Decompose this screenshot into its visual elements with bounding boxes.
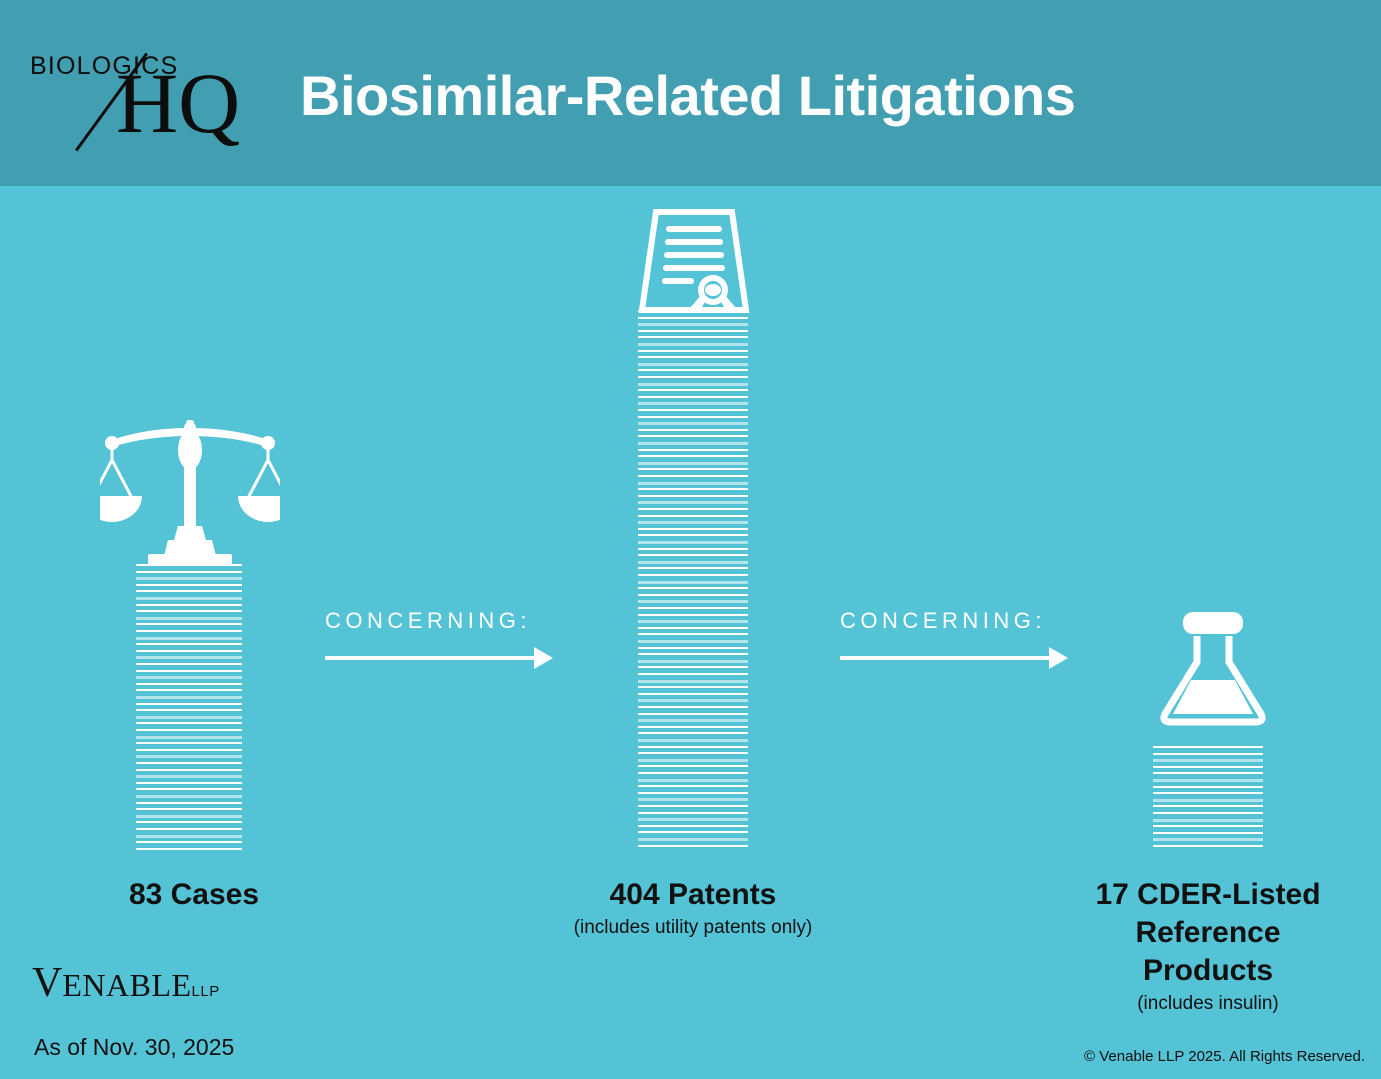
stack-line — [638, 343, 748, 346]
stack-line — [638, 713, 748, 715]
stack-line — [136, 736, 242, 739]
stack-line — [136, 815, 242, 818]
stack-line — [638, 488, 748, 490]
stack-line — [1153, 819, 1263, 822]
stack-line — [638, 600, 748, 603]
stack-line — [638, 779, 748, 782]
stack-line — [136, 650, 242, 652]
stack-line — [638, 686, 748, 688]
patent-certificate-icon — [624, 208, 764, 318]
stack-line — [638, 567, 748, 569]
stack-line — [638, 409, 748, 411]
stack-line — [136, 722, 242, 724]
stack-line — [638, 548, 748, 550]
stack-line — [136, 742, 242, 744]
stack-line — [638, 752, 748, 754]
stack-line — [136, 670, 242, 672]
stack-line — [136, 841, 242, 843]
stack-line — [638, 765, 748, 767]
stack-line — [136, 643, 242, 645]
stack-line — [638, 383, 748, 386]
stack-line — [136, 610, 242, 612]
stack-line — [638, 422, 748, 425]
stack-line — [638, 515, 748, 517]
stack-line — [638, 699, 748, 702]
stack-line — [638, 812, 748, 814]
reference-products-stack — [1153, 746, 1263, 854]
stack-line — [136, 848, 242, 850]
stack-line — [136, 828, 242, 830]
balance-scales-icon — [100, 414, 280, 564]
stack-line — [1153, 838, 1263, 841]
stack-line — [136, 584, 242, 586]
stack-line — [638, 633, 748, 635]
stack-line — [136, 683, 242, 685]
stack-line — [638, 680, 748, 683]
stack-line — [136, 590, 242, 592]
stack-line — [638, 449, 748, 451]
stack-line — [1153, 759, 1263, 762]
stack-line — [638, 818, 748, 821]
stack-line — [136, 795, 242, 798]
stack-line — [638, 666, 748, 668]
stack-line — [136, 769, 242, 771]
stack-line — [136, 689, 242, 691]
stack-line — [638, 838, 748, 841]
stack-line — [638, 614, 748, 616]
patents-label: 404 Patents — [520, 876, 866, 914]
stack-line — [136, 762, 242, 764]
stack-line — [638, 462, 748, 465]
stack-line — [136, 663, 242, 665]
stack-line — [638, 534, 748, 536]
venable-llp-text: LLP — [192, 983, 220, 1000]
patents-sublabel: (includes utility patents only) — [520, 916, 866, 940]
stack-line — [638, 495, 748, 497]
stack-line — [638, 653, 748, 655]
stack-line — [638, 501, 748, 504]
stack-line — [1153, 779, 1263, 782]
stack-line — [136, 821, 242, 823]
stack-line — [1153, 805, 1263, 807]
stack-line — [638, 455, 748, 457]
stack-line — [136, 782, 242, 784]
stack-line — [136, 703, 242, 705]
stack-line — [638, 508, 748, 510]
stack-line — [1153, 753, 1263, 755]
stack-line — [638, 792, 748, 794]
stack-line — [1153, 825, 1263, 827]
stack-line — [1153, 832, 1263, 834]
stack-line — [136, 709, 242, 711]
stack-line — [638, 363, 748, 366]
arrow-shaft-2 — [840, 656, 1053, 660]
stack-line — [638, 693, 748, 695]
stack-line — [638, 798, 748, 801]
stack-line — [136, 775, 242, 778]
stack-line — [638, 574, 748, 576]
reference-products-label-line-3: Products — [1035, 952, 1381, 990]
reference-products-label: 17 CDER-Listed Reference Products — [1035, 876, 1381, 990]
stack-line — [638, 647, 748, 649]
stack-line — [638, 706, 748, 708]
stack-line — [638, 317, 748, 319]
stack-line — [638, 468, 748, 470]
stack-line — [638, 389, 748, 391]
stack-line — [638, 402, 748, 405]
stack-line — [136, 729, 242, 731]
cases-stack — [136, 564, 242, 860]
stack-line — [638, 369, 748, 371]
stack-line — [136, 623, 242, 625]
stack-line — [638, 416, 748, 418]
stack-line — [638, 594, 748, 596]
stack-line — [638, 726, 748, 728]
logo-hq-text: HQ — [116, 60, 240, 146]
stack-line — [136, 676, 242, 679]
arrow-shaft-1 — [325, 656, 538, 660]
biologics-hq-logo: BIOLOGICS HQ — [28, 32, 258, 152]
stack-line — [638, 482, 748, 485]
reference-products-sublabel: (includes insulin) — [1035, 992, 1381, 1016]
stack-line — [638, 561, 748, 564]
stack-line — [136, 835, 242, 838]
stack-line — [1153, 772, 1263, 774]
stack-line — [638, 356, 748, 358]
stack-line — [136, 808, 242, 810]
stack-line — [638, 350, 748, 352]
stack-line — [1153, 799, 1263, 802]
cases-label: 83 Cases — [34, 876, 354, 914]
stack-line — [638, 541, 748, 544]
stack-line — [638, 746, 748, 748]
stack-line — [638, 785, 748, 787]
stack-line — [638, 376, 748, 378]
stack-line — [136, 564, 242, 566]
stack-line — [136, 571, 242, 573]
stack-line — [1153, 792, 1263, 794]
stack-line — [638, 442, 748, 445]
stack-line — [638, 640, 748, 643]
stack-line — [136, 637, 242, 640]
stack-line — [1153, 786, 1263, 788]
stack-line — [638, 805, 748, 807]
reference-products-label-line-1: 17 CDER-Listed — [1035, 876, 1381, 914]
stack-line — [136, 577, 242, 580]
stack-line — [1153, 845, 1263, 847]
stack-line — [638, 587, 748, 589]
stack-line — [638, 607, 748, 609]
stack-line — [638, 739, 748, 742]
stack-line — [136, 630, 242, 632]
stack-line — [638, 336, 748, 338]
stack-line — [136, 604, 242, 606]
reference-products-label-line-2: Reference — [1035, 914, 1381, 952]
stack-line — [1153, 812, 1263, 814]
stack-line — [638, 732, 748, 734]
venable-name-text: ENABLE — [62, 967, 191, 1003]
column-patents: 404 Patents (includes utility patents on… — [520, 186, 880, 986]
stack-line — [638, 429, 748, 431]
stack-line — [638, 435, 748, 437]
stack-line — [136, 749, 242, 751]
stack-line — [638, 719, 748, 722]
stack-line — [638, 528, 748, 530]
page-title: Biosimilar-Related Litigations — [300, 63, 1075, 128]
stack-line — [136, 788, 242, 790]
header-bar: BIOLOGICS HQ Biosimilar-Related Litigati… — [0, 0, 1381, 186]
stack-line — [638, 660, 748, 663]
stack-line — [638, 845, 748, 847]
stack-line — [136, 696, 242, 699]
stack-line — [638, 581, 748, 584]
stack-line — [1153, 766, 1263, 768]
patents-stack — [638, 310, 748, 856]
venable-v-letter: V — [32, 960, 62, 1006]
column-cases: 83 Cases — [0, 186, 420, 986]
stack-line — [638, 554, 748, 556]
stack-line — [638, 673, 748, 675]
stack-line — [638, 396, 748, 398]
stack-line — [1153, 746, 1263, 748]
venable-logo: VENABLELLP — [32, 962, 220, 1006]
connector-label-1: CONCERNING: — [325, 608, 531, 634]
stack-line — [638, 831, 748, 833]
stack-line — [638, 310, 748, 312]
copyright-notice: © Venable LLP 2025. All Rights Reserved. — [1084, 1048, 1365, 1065]
stack-line — [638, 825, 748, 827]
stack-line — [638, 475, 748, 477]
connector-label-2: CONCERNING: — [840, 608, 1046, 634]
stack-line — [638, 620, 748, 623]
column-reference-products: 17 CDER-Listed Reference Products (inclu… — [1035, 186, 1381, 1046]
stack-line — [136, 617, 242, 620]
lab-flask-icon — [1153, 610, 1273, 730]
as-of-date: As of Nov. 30, 2025 — [34, 1034, 234, 1061]
stack-line — [638, 330, 748, 332]
stack-line — [638, 772, 748, 774]
stack-line — [638, 627, 748, 629]
stack-line — [638, 759, 748, 762]
stack-line — [136, 802, 242, 804]
stack-line — [638, 323, 748, 326]
stack-line — [136, 755, 242, 758]
stack-line — [136, 716, 242, 719]
stack-line — [638, 521, 748, 524]
stack-line — [136, 656, 242, 659]
stack-line — [136, 597, 242, 600]
infographic-page: BIOLOGICS HQ Biosimilar-Related Litigati… — [0, 0, 1381, 1079]
